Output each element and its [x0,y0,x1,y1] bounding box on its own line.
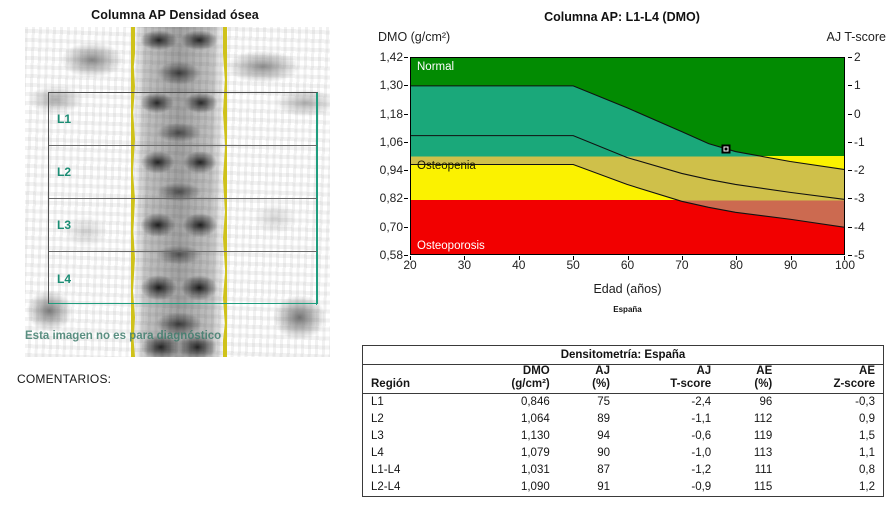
y-axis-right-title: AJ T-score [826,30,886,44]
x-tick-70: 70 [675,258,688,272]
y-right-tick-2: 0 [854,107,861,121]
cell-ae-zscore: 1,1 [780,445,883,462]
roi-region-box[interactable]: L1 L2 L3 L4 [48,92,318,304]
scan-disclaimer-text: Esta imagen no es para diagnóstico [25,330,330,342]
cell-dmo: 1,090 [461,479,558,497]
y-right-tickmark-1 [848,85,852,86]
y-left-tickmark-3 [404,142,408,143]
roi-label-l1: L1 [57,112,71,126]
dxa-panel-title: Columna AP Densidad ósea [0,8,350,22]
x-tickmark-90 [791,256,792,260]
y-left-tick-4: 0,94 [380,163,403,177]
y-right-tickmark-2 [848,114,852,115]
cell-ae-zscore: -0,3 [780,394,883,412]
y-right-tick-1: 1 [854,78,861,92]
table-caption: Densitometría: España [362,345,884,364]
cell-ae-zscore: 0,8 [780,462,883,479]
roi-row-l4[interactable]: L4 [49,252,317,305]
cell-ae-pct: 113 [719,445,780,462]
cell-aj-tscore: -1,0 [618,445,719,462]
cell-dmo: 1,031 [461,462,558,479]
table-row[interactable]: L10,84675-2,496-0,3 [363,394,884,412]
x-tickmark-70 [682,256,683,260]
th-aepct-2: (%) [719,378,780,394]
th-ajt-1: AJ [618,365,719,379]
y-right-tickmark-3 [848,142,852,143]
roi-label-l3: L3 [57,218,71,232]
roi-row-l2[interactable]: L2 [49,146,317,199]
chart-plot-area[interactable]: Normal Osteopenia Osteoporosis [410,57,845,255]
y-left-tick-1: 1,30 [380,78,403,92]
cell-region: L2-L4 [363,479,462,497]
y-right-tickmark-5 [848,198,852,199]
y-left-tickmark-1 [404,85,408,86]
y-right-tick-5: -3 [854,191,865,205]
y-right-tick-6: -4 [854,220,865,234]
y-left-tickmark-5 [404,198,408,199]
cell-aj-tscore: -1,1 [618,411,719,428]
reference-curve-bands [411,58,844,255]
cell-aj-tscore: -0,6 [618,428,719,445]
cell-aj-tscore: -0,9 [618,479,719,497]
cell-ae-pct: 96 [719,394,780,412]
cell-aj-pct: 90 [558,445,618,462]
th-aez-1: AE [780,365,883,379]
x-tick-50: 50 [566,258,579,272]
table-head: DMO AJ AJ AE AE Región (g/cm²) (%) T-sco… [363,365,884,394]
x-tick-30: 30 [458,258,471,272]
y-right-tickmark-4 [848,170,852,171]
table-header-row-2: Región (g/cm²) (%) T-score (%) Z-score [363,378,884,394]
cell-dmo: 1,130 [461,428,558,445]
cell-aj-pct: 75 [558,394,618,412]
cell-dmo: 1,064 [461,411,558,428]
th-aez-2: Z-score [780,378,883,394]
roi-row-l3[interactable]: L3 [49,199,317,252]
th-region-2: Región [363,378,462,394]
cell-ae-zscore: 1,2 [780,479,883,497]
table-row[interactable]: L2-L41,09091-0,91151,2 [363,479,884,497]
y-axis-left-ticks: 1,421,301,181,060,940,820,700,58 [362,57,408,255]
x-tick-90: 90 [784,258,797,272]
densitometry-results-table: Densitometría: España DMO AJ AJ AE AE Re… [362,345,884,517]
x-tickmark-40 [519,256,520,260]
zone-label-osteopenia: Osteopenia [417,160,476,172]
y-left-tickmark-6 [404,227,408,228]
dxa-scan-panel: Columna AP Densidad ósea L1 L2 L3 L4 Est… [0,0,360,400]
cell-dmo: 0,846 [461,394,558,412]
y-left-tick-7: 0,58 [380,248,403,262]
table-row[interactable]: L21,06489-1,11120,9 [363,411,884,428]
cell-aj-pct: 89 [558,411,618,428]
y-right-tickmark-6 [848,227,852,228]
y-left-tick-0: 1,42 [380,50,403,64]
bmd-reference-chart: Columna AP: L1-L4 (DMO) DMO (g/cm²) AJ T… [362,0,896,335]
cell-dmo: 1,079 [461,445,558,462]
y-left-tickmark-0 [404,57,408,58]
th-ajpct-1: AJ [558,365,618,379]
cell-aj-pct: 94 [558,428,618,445]
x-tickmark-80 [736,256,737,260]
y-left-tick-5: 0,82 [380,191,403,205]
chart-title: Columna AP: L1-L4 (DMO) [362,10,882,24]
cell-region: L3 [363,428,462,445]
y-left-tickmark-2 [404,114,408,115]
y-right-tickmark-0 [848,57,852,58]
cell-ae-pct: 119 [719,428,780,445]
cell-aj-tscore: -2,4 [618,394,719,412]
x-tick-40: 40 [512,258,525,272]
table-row[interactable]: L41,07990-1,01131,1 [363,445,884,462]
y-left-tick-6: 0,70 [380,220,403,234]
th-ajpct-2: (%) [558,378,618,394]
y-right-tick-7: -5 [854,248,865,262]
roi-row-l1[interactable]: L1 [49,93,317,146]
th-ajt-2: T-score [618,378,719,394]
zone-label-osteoporosis: Osteoporosis [417,240,485,252]
th-region-1 [363,365,462,379]
x-tickmark-100 [844,256,845,260]
zone-label-normal: Normal [417,61,454,73]
comments-label: COMENTARIOS: [17,372,111,386]
roi-label-l4: L4 [57,272,71,286]
table-row[interactable]: L31,13094-0,61191,5 [363,428,884,445]
reference-population-label: España [410,305,845,314]
table-row[interactable]: L1-L41,03187-1,21110,8 [363,462,884,479]
cell-region: L1 [363,394,462,412]
th-dmo-1: DMO [461,365,558,379]
x-tickmark-60 [628,256,629,260]
cell-aj-tscore: -1,2 [618,462,719,479]
x-axis-ticks: 2030405060708090100 [410,256,845,274]
th-aepct-1: AE [719,365,780,379]
x-tick-20: 20 [403,258,416,272]
cell-region: L4 [363,445,462,462]
table-header-row-1: DMO AJ AJ AE AE [363,365,884,379]
cell-ae-pct: 115 [719,479,780,497]
roi-label-l2: L2 [57,165,71,179]
y-left-tickmark-7 [404,255,408,256]
cell-region: L2 [363,411,462,428]
cell-ae-zscore: 1,5 [780,428,883,445]
cell-aj-pct: 87 [558,462,618,479]
x-tickmark-30 [464,256,465,260]
y-left-tickmark-4 [404,170,408,171]
x-tick-60: 60 [621,258,634,272]
x-axis-label: Edad (años) [410,282,845,296]
y-left-tick-3: 1,06 [380,135,403,149]
patient-datapoint-marker[interactable] [722,144,731,153]
x-tickmark-20 [410,256,411,260]
cell-ae-pct: 112 [719,411,780,428]
results-table: Densitometría: España DMO AJ AJ AE AE Re… [362,345,884,497]
cell-aj-pct: 91 [558,479,618,497]
x-tickmark-50 [573,256,574,260]
x-tick-80: 80 [730,258,743,272]
y-left-tick-2: 1,18 [380,107,403,121]
cell-ae-pct: 111 [719,462,780,479]
y-right-tick-0: 2 [854,50,861,64]
y-axis-right-ticks: 210-1-2-3-4-5 [848,57,888,255]
cell-ae-zscore: 0,9 [780,411,883,428]
th-dmo-2: (g/cm²) [461,378,558,394]
y-right-tick-4: -2 [854,163,865,177]
y-axis-left-title: DMO (g/cm²) [378,30,450,44]
x-tick-100: 100 [835,258,855,272]
y-right-tick-3: -1 [854,135,865,149]
cell-region: L1-L4 [363,462,462,479]
table-body: L10,84675-2,496-0,3L21,06489-1,11120,9L3… [363,394,884,497]
y-right-tickmark-7 [848,255,852,256]
